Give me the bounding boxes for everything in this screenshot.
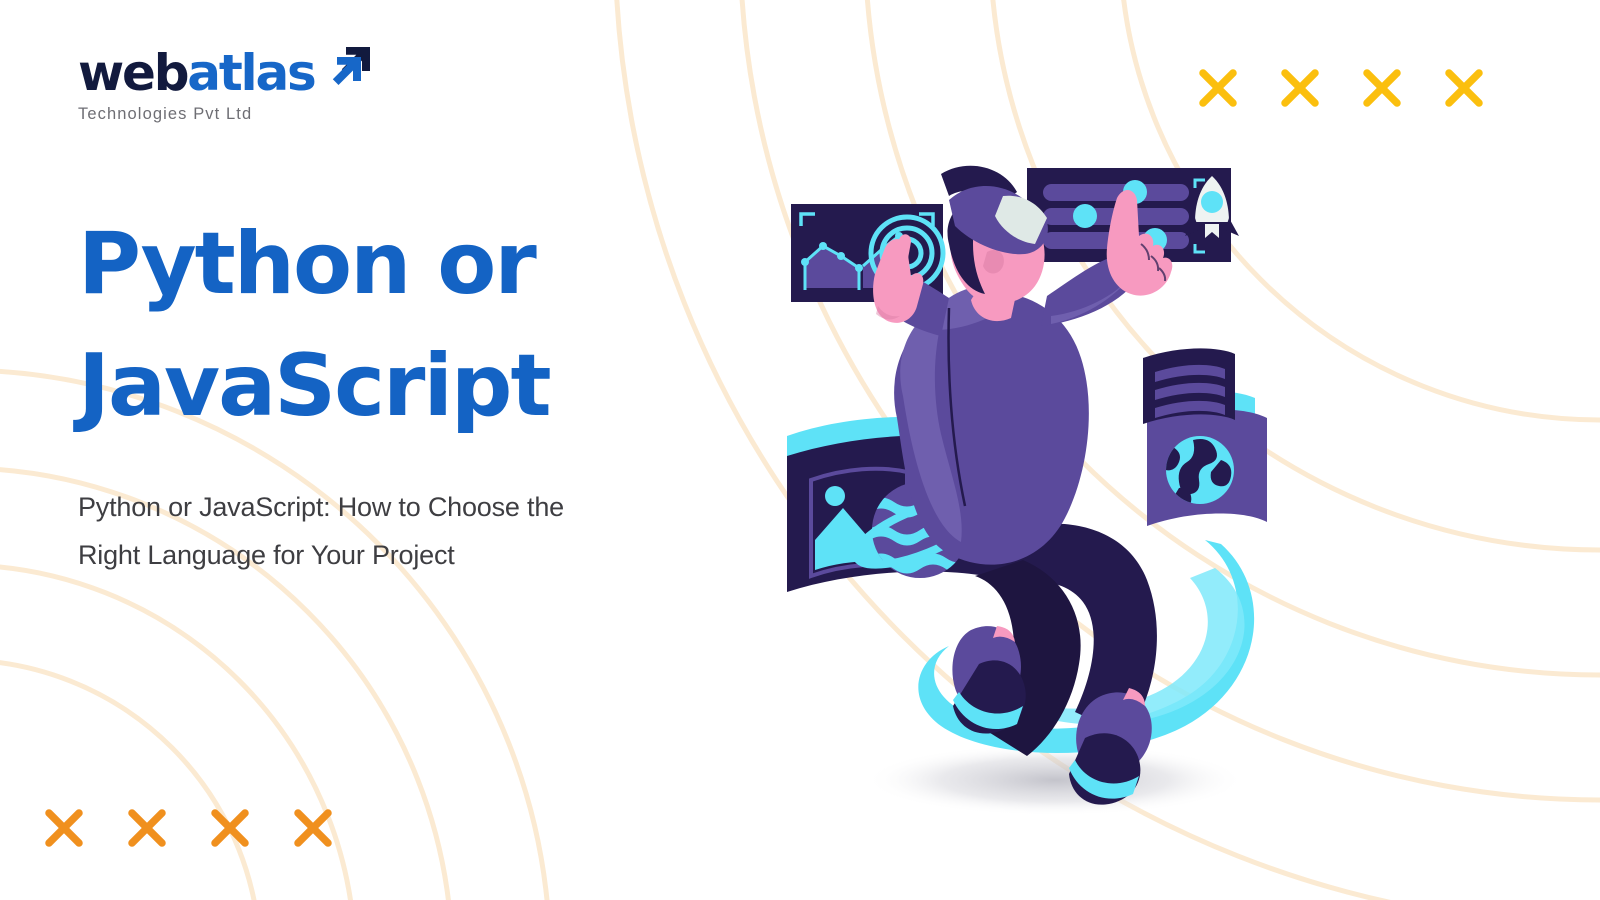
page-title: Python or JavaScript bbox=[78, 203, 718, 447]
x-mark-icon bbox=[291, 806, 335, 850]
x-marks-bottom-left bbox=[42, 806, 335, 850]
x-mark-icon bbox=[1360, 66, 1404, 110]
document-card bbox=[1143, 348, 1235, 424]
x-mark-icon bbox=[208, 806, 252, 850]
x-mark-icon bbox=[42, 806, 86, 850]
x-mark-icon bbox=[1278, 66, 1322, 110]
page-subtitle: Python or JavaScript: How to Choose the … bbox=[78, 483, 698, 579]
logo[interactable]: webatlas Technologies Pvt Ltd bbox=[78, 48, 378, 124]
logo-word-primary: web bbox=[78, 44, 187, 102]
logo-tagline: Technologies Pvt Ltd bbox=[78, 105, 378, 124]
x-mark-icon bbox=[125, 806, 169, 850]
logo-wordmark: webatlas bbox=[78, 48, 378, 98]
arrow-corner-icon bbox=[330, 42, 376, 88]
headline-line-1: Python or bbox=[78, 203, 718, 325]
logo-word-secondary: atlas bbox=[187, 44, 314, 102]
hero-illustration bbox=[735, 140, 1335, 840]
headline-line-2: JavaScript bbox=[78, 325, 718, 447]
subtitle-line-1: Python or JavaScript: How to Choose the bbox=[78, 483, 698, 531]
subtitle-line-2: Right Language for Your Project bbox=[78, 531, 698, 579]
x-mark-icon bbox=[1442, 66, 1486, 110]
x-marks-top-right bbox=[1196, 66, 1486, 110]
ground-shadow bbox=[865, 744, 1245, 816]
banner-canvas: webatlas Technologies Pvt Ltd Python or … bbox=[0, 0, 1600, 900]
x-mark-icon bbox=[1196, 66, 1240, 110]
shoe-left bbox=[952, 626, 1025, 734]
